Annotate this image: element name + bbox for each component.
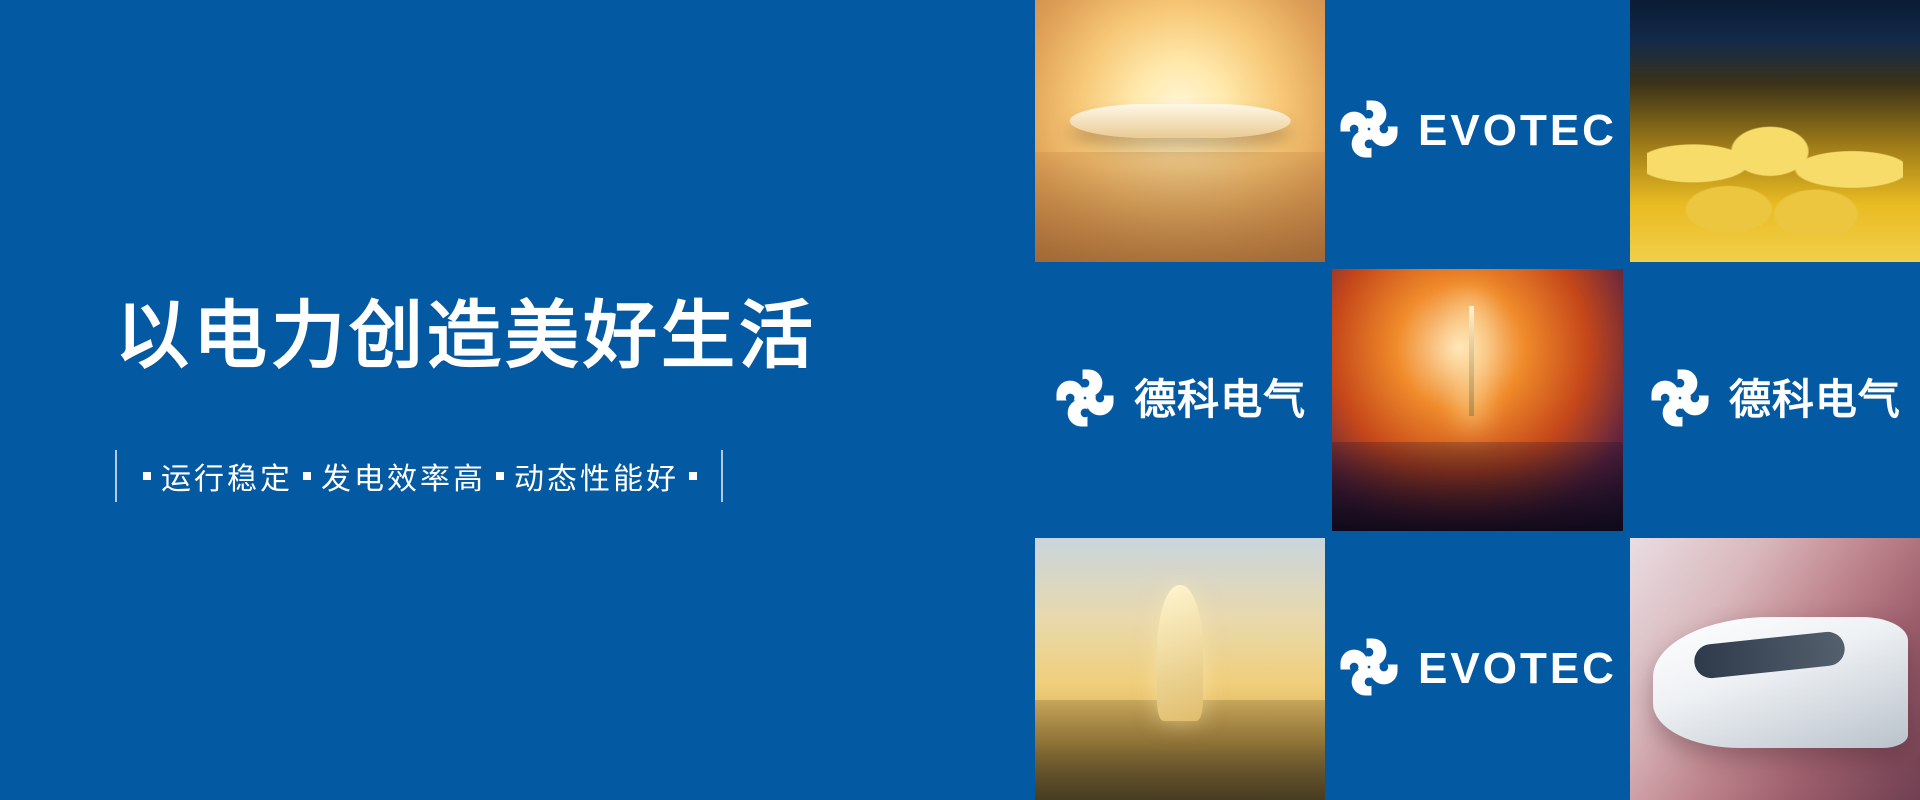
oil-tank-farm-night-photo (1630, 0, 1920, 262)
tagline-item-1: 发电效率高 (321, 454, 486, 498)
deke-wordmark: 德科电气 (1729, 379, 1901, 421)
evotec-logo-tile: EVOTEC (1332, 0, 1622, 262)
deke-logo-tile-right: 德科电气 (1630, 269, 1920, 531)
offshore-oil-rig-photo (1332, 269, 1622, 531)
high-speed-train-photo (1630, 538, 1920, 800)
tagline-bullet-icon (496, 472, 504, 480)
tagline-right-rule (721, 450, 723, 502)
brand-photo-grid: EVOTEC (1035, 0, 1920, 800)
tagline-left-rule (115, 450, 117, 502)
tagline-item-2: 动态性能好 (514, 454, 679, 498)
pinwheel-logo-icon (1338, 98, 1400, 165)
airplane-cargo-port-photo (1035, 0, 1325, 262)
pinwheel-logo-icon (1649, 367, 1711, 434)
deke-wordmark: 德科电气 (1134, 379, 1306, 421)
deke-lockup-right: 德科电气 (1649, 367, 1901, 434)
banner-copy-block: 以电力创造美好生活 运行稳定 发电效率高 动态性能好 (0, 0, 1035, 800)
tagline-bullet-icon (303, 472, 311, 480)
tagline-item-0: 运行稳定 (161, 454, 293, 498)
deke-lockup-left: 德科电气 (1054, 367, 1306, 434)
evotec-lockup-bottom: EVOTEC (1338, 636, 1617, 703)
evotec-lockup: EVOTEC (1338, 98, 1617, 165)
tagline-bullet-icon (143, 472, 151, 480)
pinwheel-logo-icon (1054, 367, 1116, 434)
wind-turbine-photo (1035, 538, 1325, 800)
evotec-wordmark: EVOTEC (1418, 647, 1617, 691)
pinwheel-logo-icon (1338, 636, 1400, 703)
deke-logo-tile-left: 德科电气 (1035, 269, 1325, 531)
page-title: 以电力创造美好生活 (115, 296, 1035, 376)
evotec-logo-tile-bottom: EVOTEC (1332, 538, 1622, 800)
tagline: 运行稳定 发电效率高 动态性能好 (133, 454, 707, 498)
evotec-wordmark: EVOTEC (1418, 109, 1617, 153)
tagline-bullet-icon (689, 472, 697, 480)
tagline-row: 运行稳定 发电效率高 动态性能好 (115, 448, 1035, 504)
